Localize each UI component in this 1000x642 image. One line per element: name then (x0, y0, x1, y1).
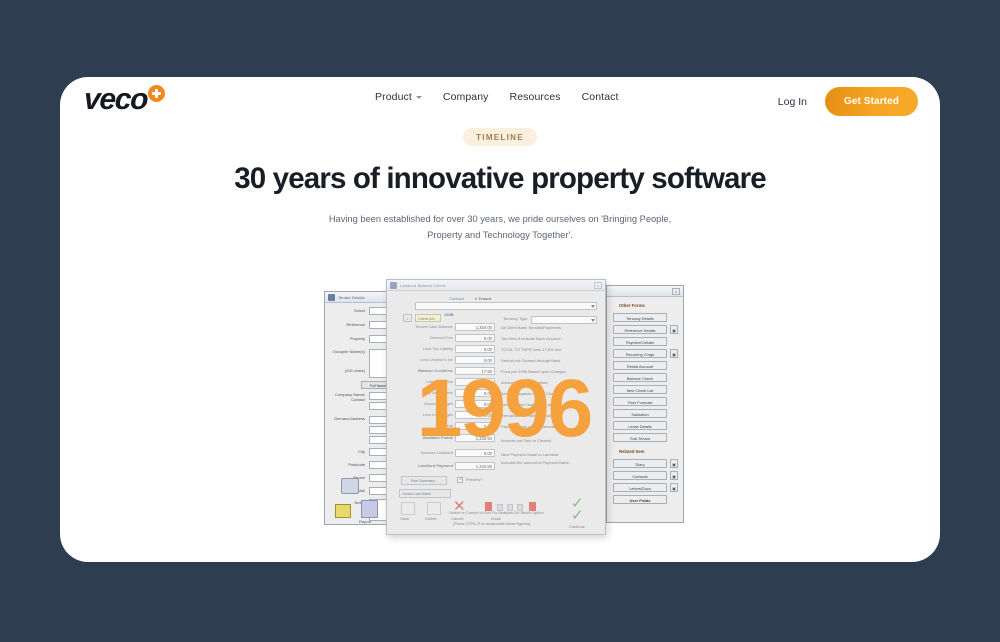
panel-close-icon[interactable]: x (672, 288, 680, 295)
cancel-last-batch-button[interactable]: Cancel Last Batch (399, 489, 451, 498)
form-button-tenancy-details[interactable]: Tenancy Details (613, 313, 667, 322)
search-icon-button[interactable]: ⌕ (403, 314, 412, 322)
client-ac-label: Client A/c (415, 314, 441, 322)
tenancy-type-label: Tenancy Type (503, 316, 528, 321)
related-button-contacts[interactable]: Contacts (613, 471, 667, 480)
nav-item-contact[interactable]: Contact (582, 91, 619, 103)
main-nav: Product Company Resources Contact (375, 91, 619, 103)
field-label: Reference (327, 322, 365, 327)
nav-item-resources[interactable]: Resources (510, 91, 561, 103)
row-label: Landlord Payment (391, 463, 453, 468)
related-button-user-fields[interactable]: User Fields (613, 495, 667, 504)
legacy-app-screenshot: Tenant Details Select Reference Property… (318, 273, 690, 545)
row-label: Less Tax Liability (391, 346, 453, 351)
field-label: Postcode (331, 462, 365, 467)
logo-text: veco (83, 83, 147, 117)
row-value: 0.00 (455, 334, 495, 342)
notes-icon (341, 478, 359, 494)
front-window-title: Landlord Balance Check (400, 283, 446, 288)
panel-titlebar: x (607, 286, 683, 297)
login-link[interactable]: Log In (778, 96, 807, 108)
other-forms-title: Other Forms (619, 303, 645, 308)
save-label: Save (400, 516, 409, 521)
note-text: TOTAL TO TRFR Less 17.5% incl (501, 347, 561, 352)
client-ac-value: 250B (444, 312, 454, 317)
continue-icon[interactable]: ✓ (571, 508, 584, 523)
row-value: 0.00 (455, 345, 495, 353)
delete-label: Delete (425, 516, 437, 521)
header-actions: Log In Get Started (778, 87, 918, 116)
get-started-button[interactable]: Get Started (825, 87, 918, 116)
field-label: Select (331, 308, 365, 313)
front-window-titlebar: Landlord Balance Check x (387, 280, 605, 291)
field-label: Property (331, 336, 365, 341)
row-value: 1,350.00 (455, 323, 495, 331)
year-overlay: 1996 (318, 368, 690, 450)
letters-docs-expand-icon[interactable]: ▣ (670, 483, 678, 492)
form-button-recurring-chrgs[interactable]: Recurring Chrgs (613, 349, 667, 358)
note-text: Tax Held If Indicate Bank Account (501, 336, 561, 341)
nav-label: Resources (510, 91, 561, 103)
timeline-badge: TIMELINE (463, 128, 537, 146)
diary-expand-icon[interactable]: ▣ (670, 459, 678, 468)
plus-circle-icon (148, 85, 165, 102)
nav-label: Company (443, 91, 489, 103)
preview-checkbox[interactable] (457, 477, 463, 483)
page-title: 30 years of innovative property software (60, 163, 940, 195)
reference-details-expand-icon[interactable]: ▣ (670, 325, 678, 334)
logo[interactable]: veco (84, 83, 165, 117)
contract-combo[interactable] (415, 302, 597, 310)
recurring-chrgs-expand-icon[interactable]: ▣ (670, 349, 678, 358)
nav-item-company[interactable]: Company (443, 91, 489, 103)
front-window-close-icon[interactable]: x (594, 282, 602, 289)
row-label: Tenant Cash Balance (391, 324, 453, 329)
note-text: All Client Bank Tenants/Payments (501, 325, 561, 330)
print-summary-button[interactable]: Print Summary... (401, 476, 447, 485)
row-value: 1,332.50 (455, 462, 495, 470)
field-label: Occupier Name(s) (327, 350, 365, 355)
folder-icon[interactable] (335, 504, 351, 518)
nav-label: Product (375, 91, 412, 103)
note-text: Includes the amount in Payment Batch (501, 460, 569, 465)
tenancy-type-combo[interactable] (531, 316, 597, 324)
row-label: Less Unclear'd Inv (391, 357, 453, 362)
contract-value: # Tenant (475, 296, 491, 301)
preview-label: Preview? (466, 477, 482, 482)
row-label: Demand Fee (391, 335, 453, 340)
report-icon[interactable] (361, 500, 378, 518)
chevron-down-icon (416, 96, 422, 99)
form-button-reference-details[interactable]: Reference Details (613, 325, 667, 334)
related-button-diary[interactable]: Diary (613, 459, 667, 468)
hero-section: TIMELINE 30 years of innovative property… (60, 127, 940, 243)
save-icon[interactable] (401, 502, 415, 515)
footer-hint: (Press CTRL-P to recalculate these figur… (453, 521, 530, 526)
continue-label: Continue (569, 524, 585, 529)
site-header: veco Product Company Resources Contact (60, 77, 940, 125)
nav-label: Contact (582, 91, 619, 103)
delete-icon[interactable] (427, 502, 441, 515)
form-button-payment-details[interactable]: Payment Details (613, 337, 667, 346)
window-title: Tenant Details (338, 295, 365, 300)
nav-item-product[interactable]: Product (375, 91, 422, 103)
related-button-letters-docs[interactable]: Letters/Docs (613, 483, 667, 492)
contract-label: Contract (449, 296, 464, 301)
contacts-expand-icon[interactable]: ▣ (670, 471, 678, 480)
report-label: Report (359, 519, 371, 524)
page-root: veco Product Company Resources Contact (0, 0, 1000, 642)
content-card: veco Product Company Resources Contact (60, 77, 940, 562)
footer-note: Select or Cancel to Exit Flo Analysis Er… (449, 510, 544, 515)
app-icon (390, 282, 397, 289)
hero-subtitle: Having been established for over 30 year… (310, 212, 690, 243)
app-icon (328, 294, 335, 301)
